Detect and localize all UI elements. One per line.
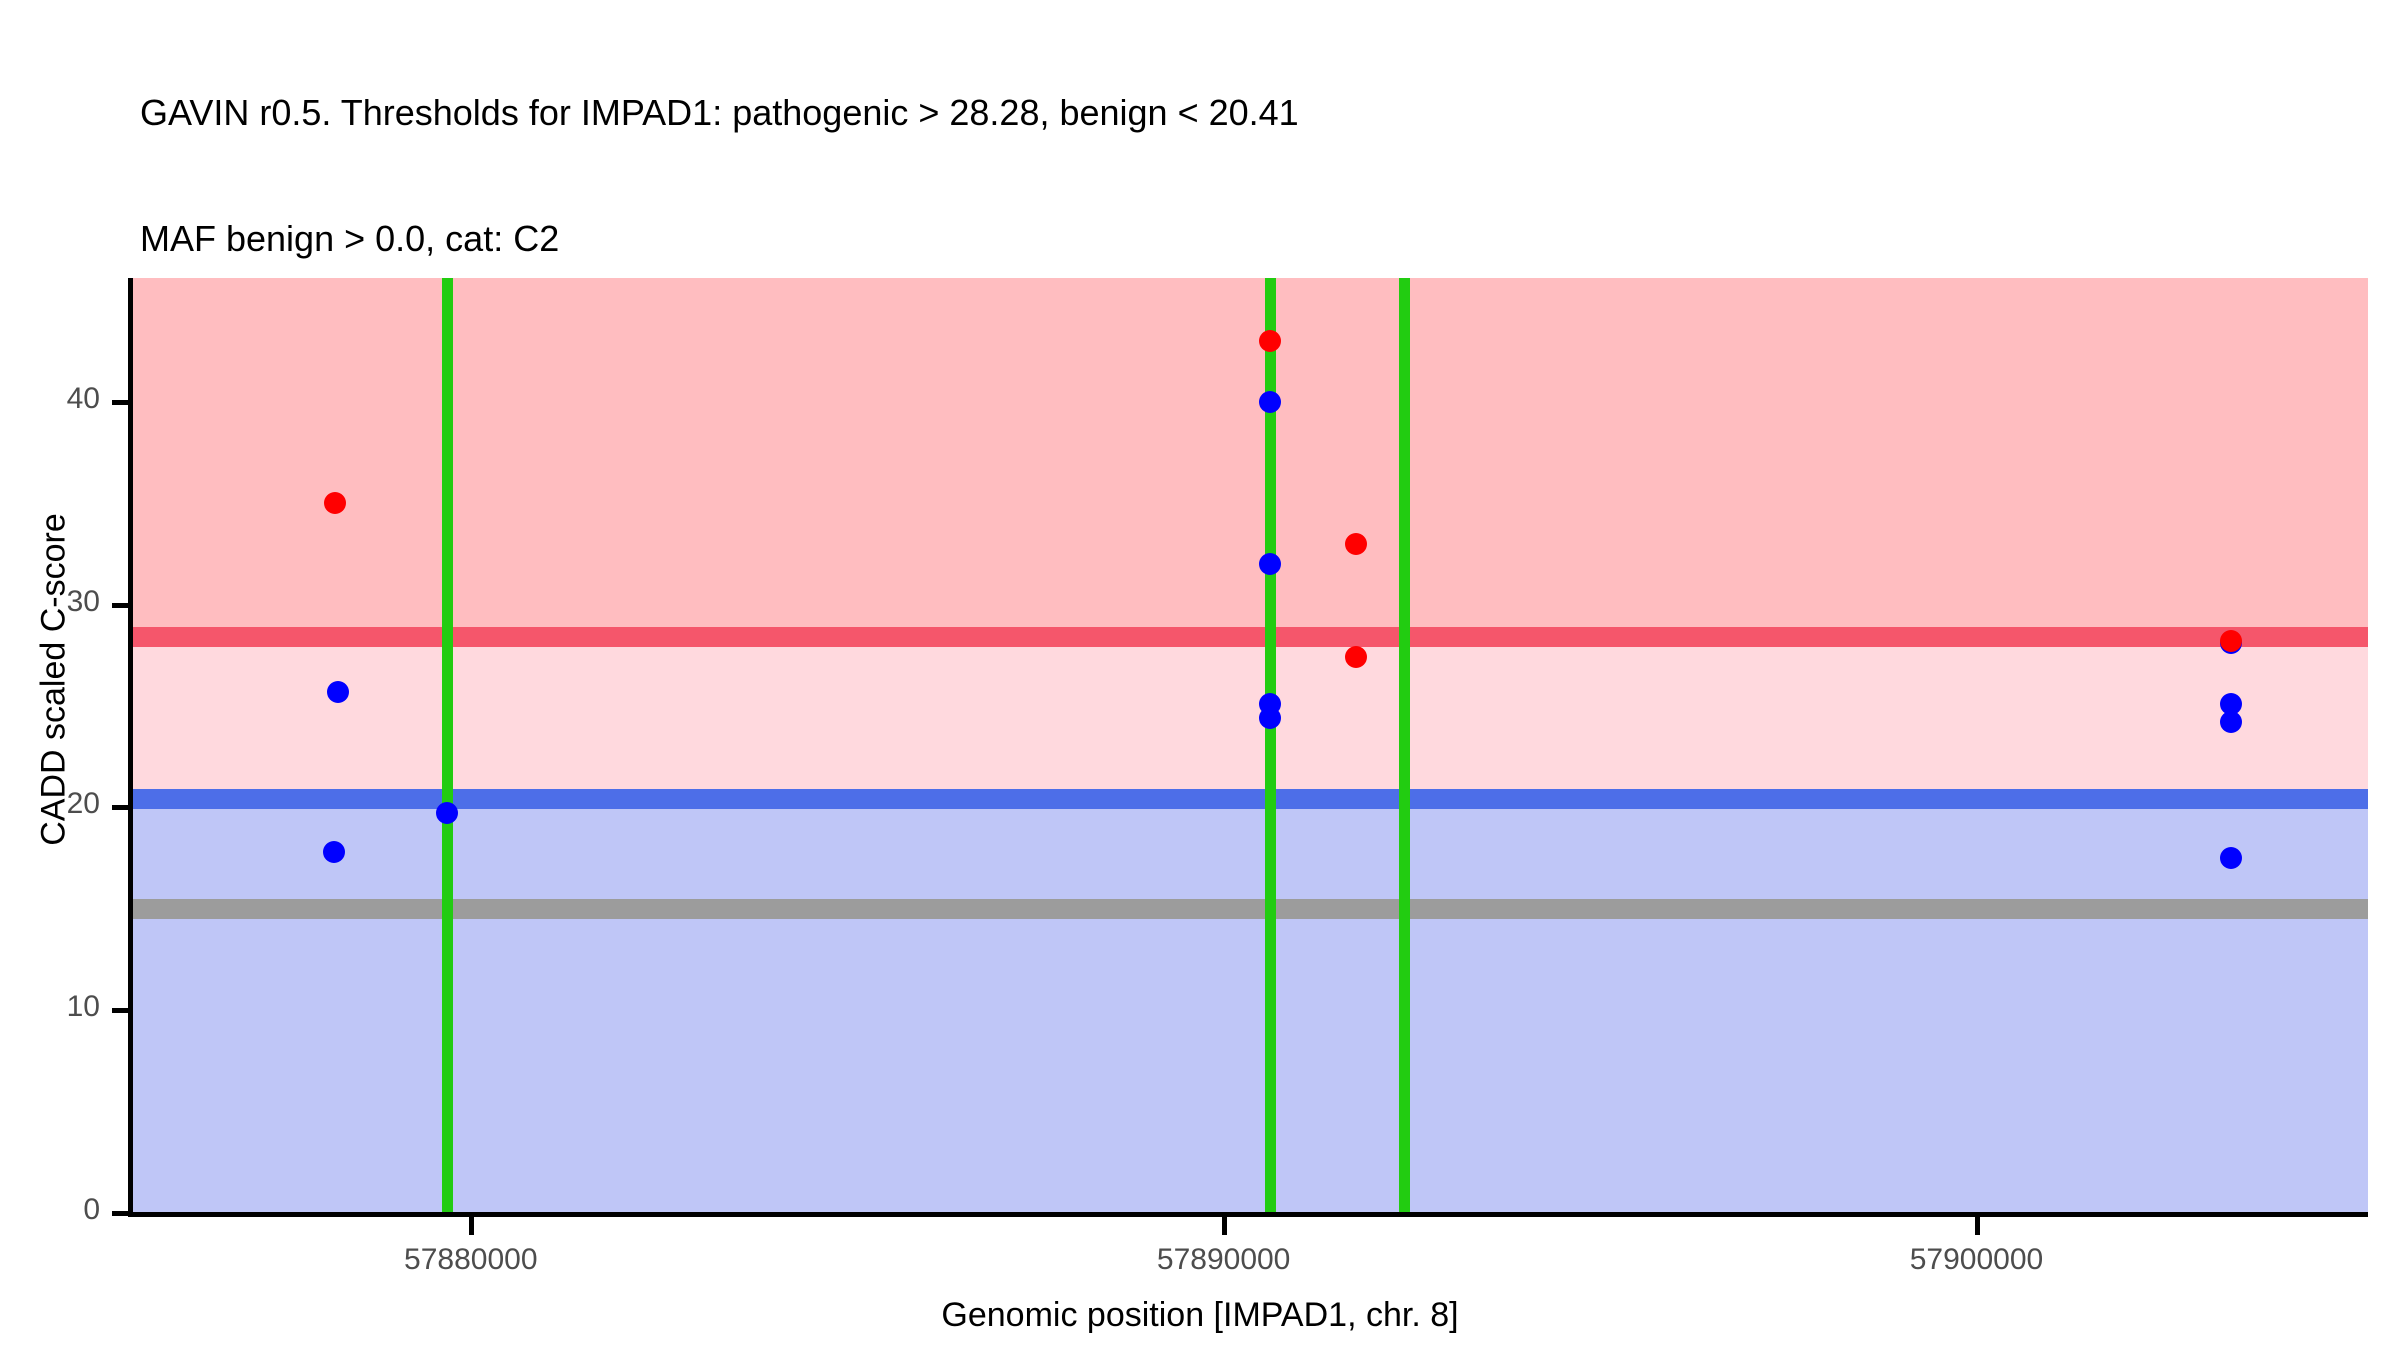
y-axis-line (128, 278, 133, 1213)
refseq-exon-line (1399, 278, 1410, 1213)
gnomad-variant-point (436, 802, 458, 824)
band-benign-threshold-band (132, 789, 2368, 809)
band-pathogenic-threshold-band (132, 627, 2368, 647)
gnomad-variant-point (2220, 847, 2242, 869)
y-axis-label: CADD scaled C-score (35, 230, 74, 1130)
x-axis-tick-label: 57880000 (321, 1243, 621, 1277)
clinvar-pathogenic-point (1345, 533, 1367, 555)
x-axis-tick-label: 57900000 (1827, 1243, 2127, 1277)
y-axis-tick (112, 805, 130, 810)
y-axis-tick-label: 0 (0, 1193, 100, 1227)
x-axis-line (128, 1212, 2368, 1217)
plot-panel (132, 278, 2368, 1213)
refseq-exon-line (1265, 278, 1276, 1213)
chart-root: GAVIN r0.5. Thresholds for IMPAD1: patho… (0, 0, 2400, 1350)
x-axis-tick (1222, 1217, 1227, 1235)
band-benign-region-upper (132, 809, 2368, 898)
gnomad-variant-point (323, 841, 345, 863)
gnomad-variant-point (327, 681, 349, 703)
band-vus-region (132, 647, 2368, 789)
band-benign-region-lower (132, 919, 2368, 1213)
x-axis-tick (469, 1217, 474, 1235)
refseq-exon-line (442, 278, 453, 1213)
gnomad-variant-point (2220, 711, 2242, 733)
title-line-1: GAVIN r0.5. Thresholds for IMPAD1: patho… (140, 92, 2340, 134)
y-axis-tick (112, 603, 130, 608)
x-axis-tick-label: 57890000 (1074, 1243, 1374, 1277)
gnomad-variant-point (1259, 391, 1281, 413)
clinvar-pathogenic-point (1259, 330, 1281, 352)
title-line-2: MAF benign > 0.0, cat: C2 (140, 218, 2340, 260)
clinvar-pathogenic-point (2220, 630, 2242, 652)
x-axis-label: Genomic position [IMPAD1, chr. 8] (0, 1296, 2400, 1335)
band-pathogenic-region (132, 278, 2368, 627)
y-axis-tick (112, 400, 130, 405)
y-axis-tick (112, 1008, 130, 1013)
y-axis-tick (112, 1211, 130, 1216)
x-axis-tick (1975, 1217, 1980, 1235)
band-fallback-threshold-band (132, 899, 2368, 919)
